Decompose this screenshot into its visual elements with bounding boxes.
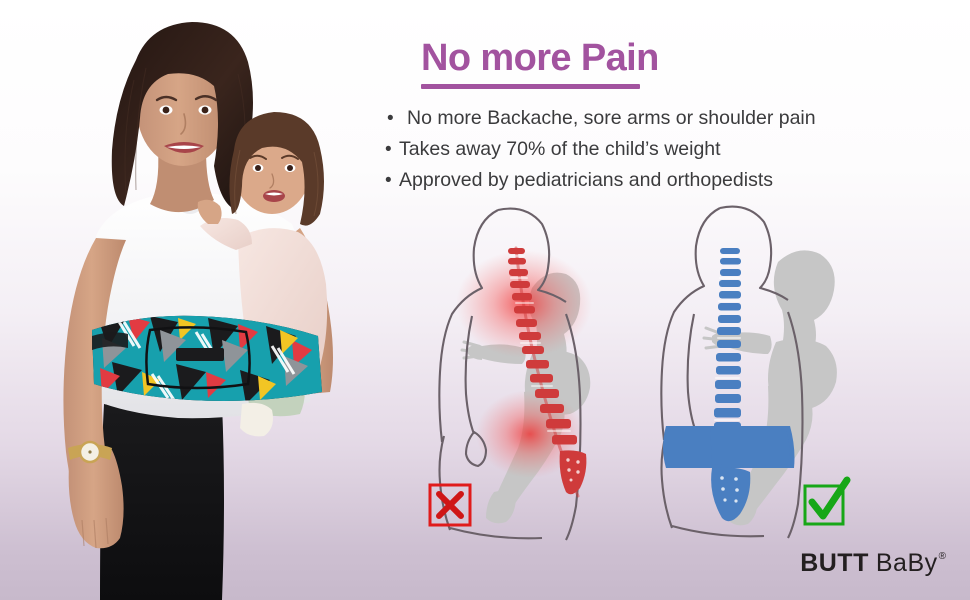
- benefit-list: • No more Backache, sore arms or shoulde…: [385, 103, 965, 196]
- list-item: • Takes away 70% of the child’s weight: [385, 134, 965, 165]
- page-title: No more Pain: [421, 36, 659, 80]
- list-item: • No more Backache, sore arms or shoulde…: [385, 103, 965, 134]
- product-photo: [0, 0, 380, 600]
- x-icon: [439, 494, 461, 516]
- headline-underline: [421, 84, 640, 89]
- carrier-logo-tag: [176, 348, 224, 361]
- logo-bold-text: BUTT: [800, 551, 869, 576]
- list-item: • Approved by pediatricians and orthoped…: [385, 165, 965, 196]
- spine-good: [711, 248, 750, 521]
- list-item-label: Takes away 70% of the child’s weight: [399, 134, 721, 165]
- bullet-marker: •: [385, 134, 399, 165]
- posture-comparison-illustration: [420, 196, 940, 546]
- bullet-marker: •: [385, 165, 399, 196]
- brand-logo: BUTT BaBy ®: [800, 551, 946, 576]
- adult-hand: [69, 450, 124, 548]
- logo-light-text: BaBy: [876, 551, 938, 576]
- incorrect-marker: [428, 483, 472, 527]
- advertisement-banner: No more Pain • No more Backache, sore ar…: [0, 0, 970, 600]
- correct-marker: [803, 480, 847, 524]
- child-sock: [240, 403, 273, 436]
- bullet-marker: •: [385, 103, 407, 134]
- list-item-label: No more Backache, sore arms or shoulder …: [407, 103, 816, 134]
- hip-seat-blue: [663, 426, 795, 468]
- registered-trademark-symbol: ®: [939, 552, 946, 562]
- headline-block: No more Pain: [421, 36, 659, 89]
- list-item-label: Approved by pediatricians and orthopedis…: [399, 165, 773, 196]
